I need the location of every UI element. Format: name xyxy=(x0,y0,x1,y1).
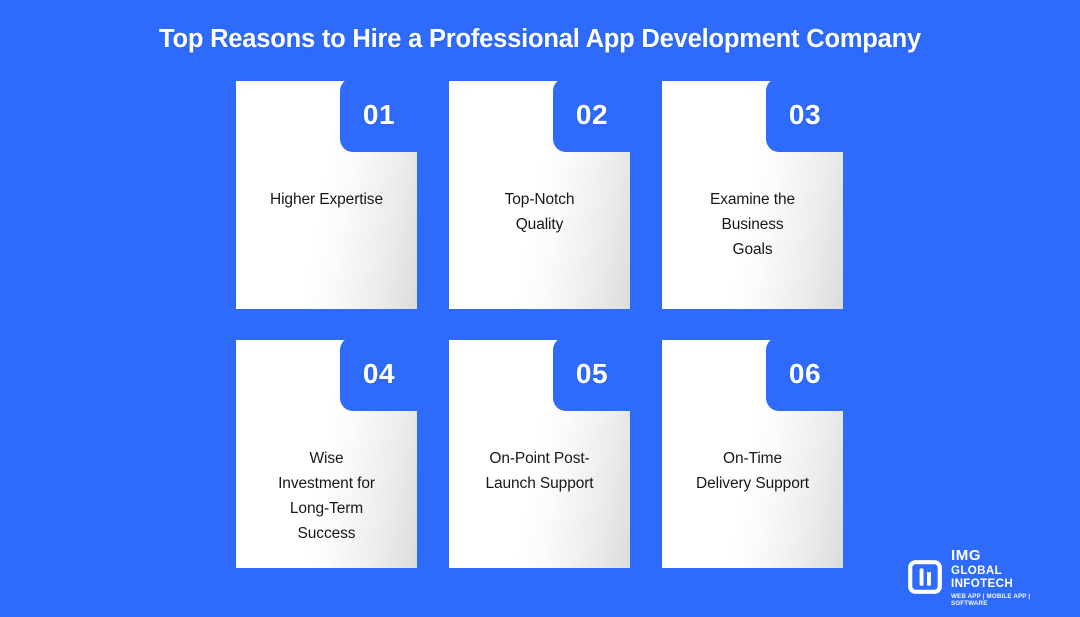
infographic-poster: Top Reasons to Hire a Professional App D… xyxy=(0,0,1080,617)
brand-logo: IMG GLOBAL INFOTECH WEB APP | MOBILE APP… xyxy=(908,554,1048,600)
reason-number-5: 05 xyxy=(576,360,608,388)
brand-tagline: WEB APP | MOBILE APP | SOFTWARE xyxy=(951,593,1048,608)
reason-label-5: On-Point Post- Launch Support xyxy=(458,446,621,496)
reason-label-4: Wise Investment for Long-Term Success xyxy=(245,446,408,546)
brand-logo-text: IMG GLOBAL INFOTECH WEB APP | MOBILE APP… xyxy=(951,547,1048,608)
page-title: Top Reasons to Hire a Professional App D… xyxy=(0,24,1080,55)
brand-name-primary: IMG xyxy=(951,548,1048,563)
reason-card-2: 02 Top-Notch Quality xyxy=(449,81,630,309)
reason-label-2: Top-Notch Quality xyxy=(458,187,621,237)
reason-number-6: 06 xyxy=(789,360,821,388)
reason-card-3: 03 Examine the Business Goals xyxy=(662,81,843,309)
reason-number-badge-4: 04 xyxy=(340,337,418,411)
reason-number-badge-1: 01 xyxy=(340,78,418,152)
brand-name-secondary: GLOBAL INFOTECH xyxy=(951,564,1048,591)
reason-card-1: 01 Higher Expertise xyxy=(236,81,417,309)
reason-card-5: 05 On-Point Post- Launch Support xyxy=(449,340,630,568)
reason-label-6: On-Time Delivery Support xyxy=(671,446,834,496)
reason-label-1: Higher Expertise xyxy=(245,187,408,212)
reason-number-1: 01 xyxy=(363,101,395,129)
reason-number-badge-5: 05 xyxy=(553,337,631,411)
reason-label-3: Examine the Business Goals xyxy=(671,187,834,262)
reason-number-4: 04 xyxy=(363,360,395,388)
reasons-grid: 01 Higher Expertise 02 Top-Notch Quality… xyxy=(236,81,844,568)
reason-number-badge-3: 03 xyxy=(766,78,844,152)
reason-number-badge-2: 02 xyxy=(553,78,631,152)
img-global-infotech-logomark-icon xyxy=(908,560,942,594)
reason-card-4: 04 Wise Investment for Long-Term Success xyxy=(236,340,417,568)
reason-number-2: 02 xyxy=(576,101,608,129)
reason-card-6: 06 On-Time Delivery Support xyxy=(662,340,843,568)
reason-number-badge-6: 06 xyxy=(766,337,844,411)
reason-number-3: 03 xyxy=(789,101,821,129)
